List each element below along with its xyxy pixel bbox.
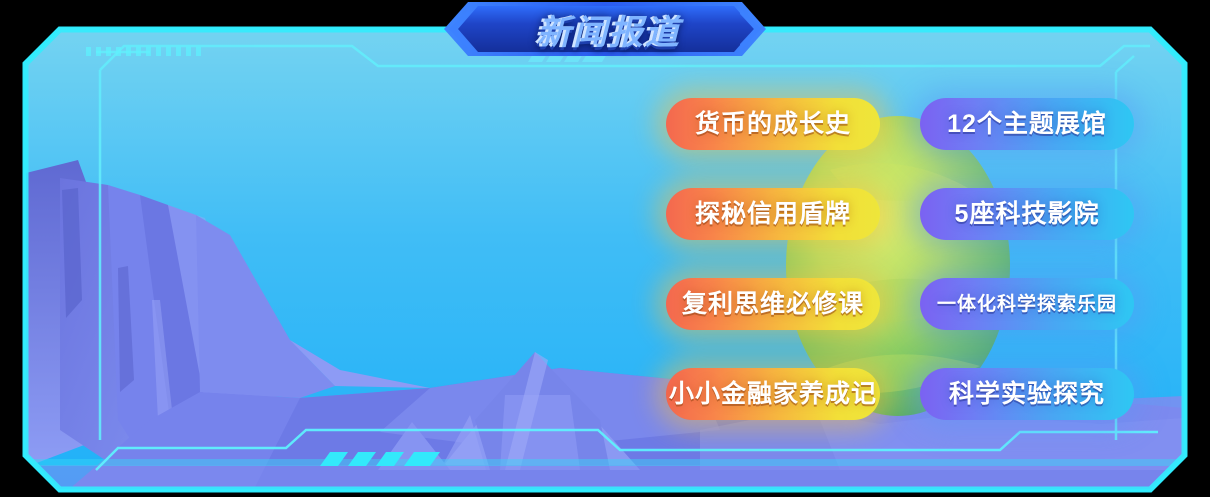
pill-right-1[interactable]: 12个主题展馆 [920, 98, 1134, 150]
title-banner-shape [0, 0, 1210, 497]
pill-right-4-label: 科学实验探究 [949, 382, 1105, 407]
pill-left-3-label: 复利思维必修课 [682, 292, 864, 317]
pill-right-3-label: 一体化科学探索乐园 [937, 295, 1117, 314]
banner: 新闻报道 新闻报道 [472, 2, 742, 56]
pill-right-2[interactable]: 5座科技影院 [920, 188, 1134, 240]
pill-right-3[interactable]: 一体化科学探索乐园 [920, 278, 1134, 330]
pill-right-2-label: 5座科技影院 [955, 202, 1100, 227]
page-title: 新闻报道 [472, 2, 742, 56]
pill-left-1[interactable]: 货币的成长史 [666, 98, 880, 150]
pill-left-3[interactable]: 复利思维必修课 [666, 278, 880, 330]
pill-left-2-label: 探秘信用盾牌 [695, 202, 851, 227]
pill-left-4-label: 小小金融家养成记 [669, 382, 877, 407]
pill-right-4[interactable]: 科学实验探究 [920, 368, 1134, 420]
poster-canvas: 新闻报道 新闻报道 货币的成长史 探秘信用盾牌 复利思维必修课 小小金融家养成记… [0, 0, 1210, 497]
pill-left-1-label: 货币的成长史 [695, 112, 851, 137]
pill-left-2[interactable]: 探秘信用盾牌 [666, 188, 880, 240]
pill-left-4[interactable]: 小小金融家养成记 [666, 368, 880, 420]
pill-right-1-label: 12个主题展馆 [947, 112, 1107, 137]
